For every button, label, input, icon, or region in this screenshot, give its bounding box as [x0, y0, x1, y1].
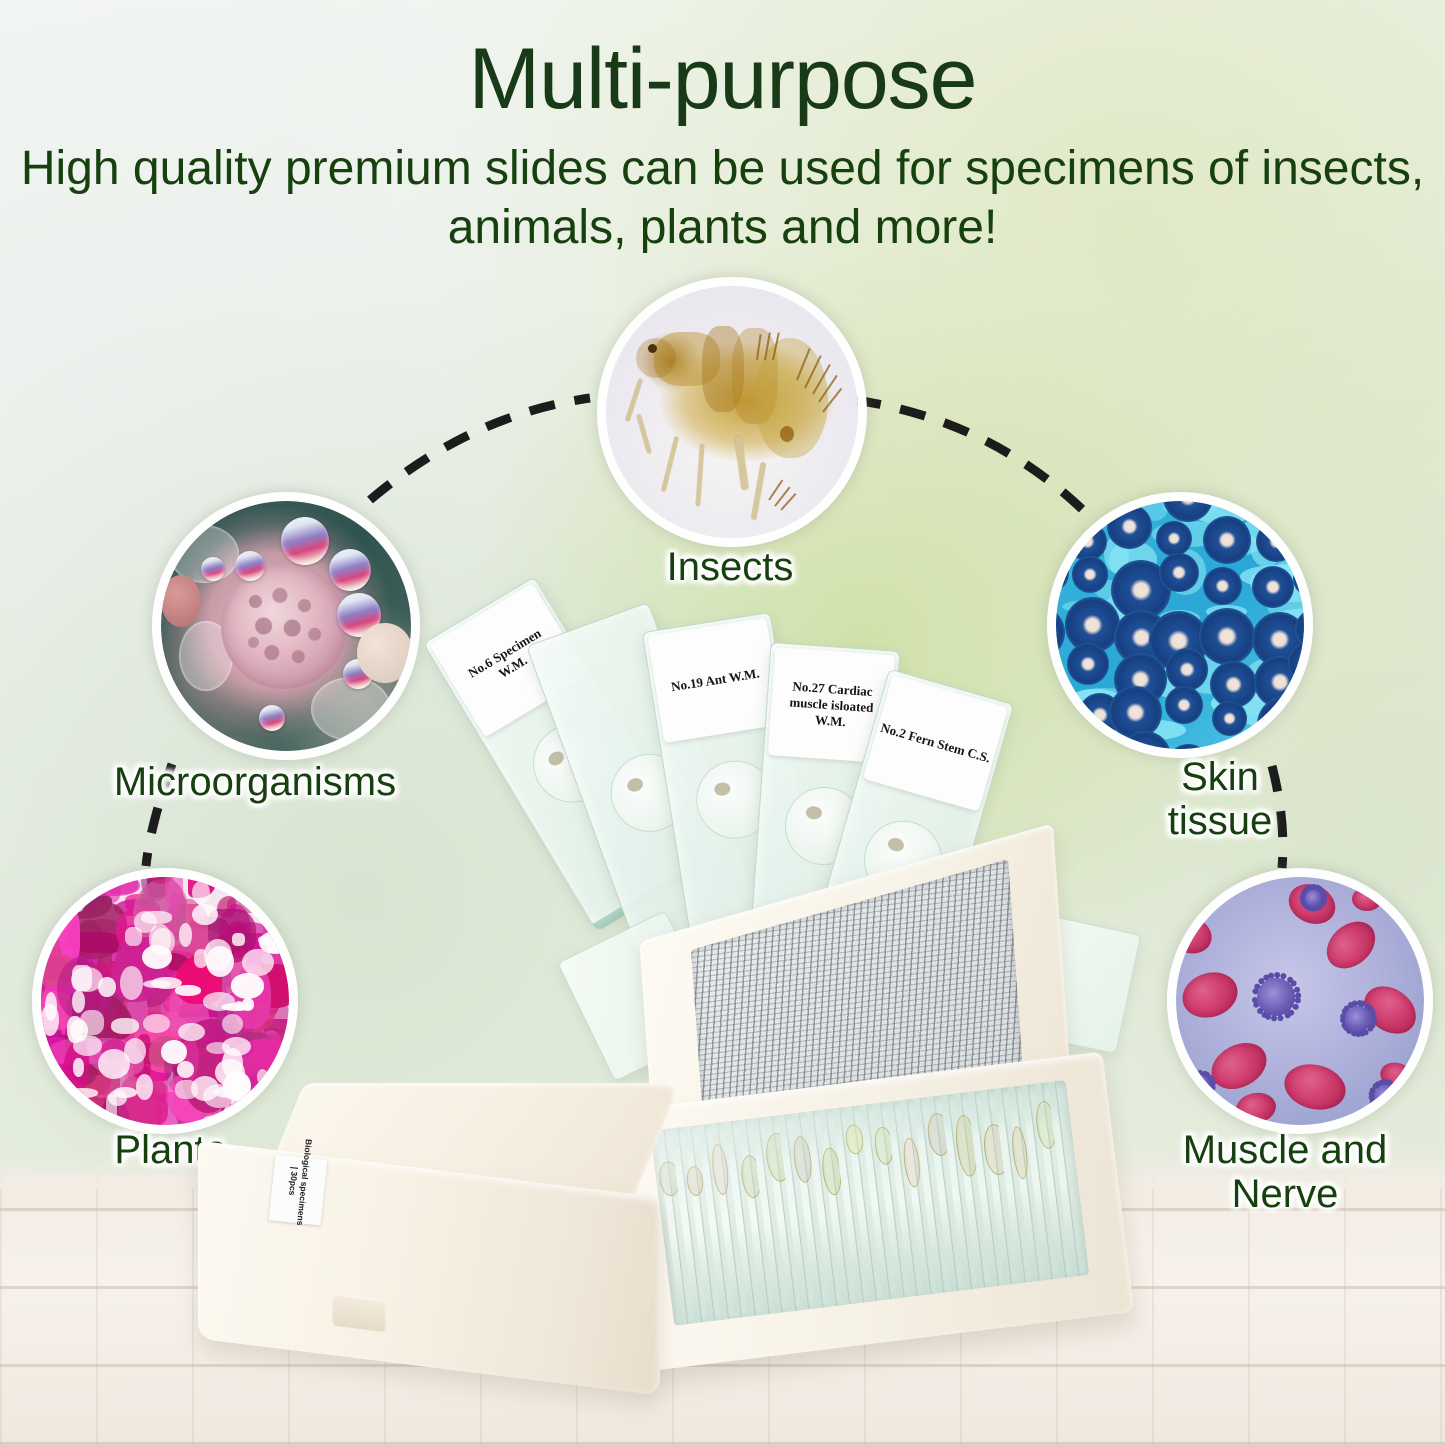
- slide-label-text: No.19 Ant W.M.: [648, 618, 783, 743]
- tissue-lumen: [192, 881, 210, 904]
- tissue-blob: [41, 879, 58, 942]
- virus-particle: [1180, 1065, 1220, 1105]
- virus-core: [1190, 1075, 1210, 1095]
- tissue-lumen: [194, 949, 209, 967]
- tissue-lumen: [136, 1074, 153, 1099]
- red-blood-cell: [1234, 1090, 1279, 1125]
- tissue-blob: [86, 877, 141, 896]
- virus-core: [1345, 1006, 1371, 1032]
- callout-label-microorganisms: Microorganisms: [60, 760, 450, 804]
- callout-label-skin-tissue: Skin tissue: [1110, 755, 1330, 843]
- protist-cell-micrograph: [161, 501, 411, 751]
- tissue-lumen: [206, 946, 234, 977]
- skin-cell: [1159, 553, 1199, 593]
- open-slide-box: [620, 885, 1140, 1355]
- skin-cell: [1109, 686, 1162, 739]
- red-blood-cell: [1352, 887, 1382, 911]
- tissue-lumen: [178, 1023, 205, 1041]
- tissue-lumen: [175, 1080, 198, 1099]
- callout-image-insects: [597, 277, 867, 547]
- skin-cell: [1107, 504, 1152, 549]
- tissue-lumen: [234, 1001, 244, 1010]
- tissue-lumen: [161, 1040, 187, 1063]
- virus-particle: [1332, 993, 1384, 1045]
- tissue-lumen: [111, 1018, 138, 1033]
- skin-cell: [1252, 566, 1294, 608]
- tissue-lumen: [232, 933, 245, 946]
- tissue-lumen: [67, 1088, 98, 1098]
- tissue-lumen: [231, 973, 265, 998]
- tissue-lumen: [70, 1103, 94, 1122]
- tissue-lumen: [259, 931, 289, 954]
- skin-cell: [1167, 744, 1210, 749]
- skin-cell: [1203, 516, 1251, 564]
- virus-core: [1305, 890, 1322, 907]
- product-marketing-image: Multi-purpose High quality premium slide…: [0, 0, 1445, 1445]
- tissue-lumen: [73, 1058, 84, 1077]
- flea-micrograph: [606, 286, 858, 538]
- virus-particle: [1238, 959, 1314, 1035]
- connector-insects-skin: [855, 400, 1085, 512]
- slide-label-text: No.2 Fern Stem C.S.: [863, 675, 1008, 812]
- tissue-lumen: [45, 992, 57, 1020]
- tissue-lumen: [80, 1010, 104, 1035]
- skin-cell: [1156, 521, 1192, 557]
- tissue-lumen: [72, 965, 92, 990]
- box-clasp: [332, 1294, 386, 1333]
- tissue-lumen: [206, 1042, 230, 1054]
- tissue-lumen: [179, 923, 192, 946]
- skin-cell: [1256, 521, 1297, 562]
- red-blood-cell: [1177, 965, 1244, 1024]
- red-blood-cell: [1280, 1058, 1351, 1116]
- tissue-lumen: [192, 904, 217, 925]
- tissue-lumen: [98, 977, 115, 997]
- red-blood-cell: [1318, 912, 1385, 978]
- skin-cell: [1212, 701, 1247, 736]
- tissue-lumen: [72, 882, 86, 912]
- callout-label-muscle-nerve: Muscle and Nerve: [1150, 1128, 1420, 1216]
- tissue-lumen: [177, 1061, 194, 1077]
- tissue-lumen: [113, 1087, 138, 1098]
- slide-stack: [651, 1080, 1090, 1325]
- virus-core: [1374, 1085, 1397, 1108]
- virus-particle: [1362, 1073, 1408, 1119]
- tissue-lumen: [120, 966, 143, 1000]
- callout-image-muscle-nerve: [1167, 868, 1433, 1134]
- tissue-blob: [235, 877, 264, 895]
- tissue-lumen: [175, 985, 202, 996]
- callout-image-microorganisms: [152, 492, 420, 760]
- tissue-lumen: [98, 1049, 130, 1079]
- virus-core: [1257, 978, 1295, 1016]
- skin-cell: [1166, 648, 1209, 691]
- virus-particle: [1296, 881, 1330, 915]
- skin-cell: [1203, 567, 1242, 606]
- product-label-sticker: Biological specimens | 30pcs: [269, 1154, 328, 1225]
- closed-slide-box: [196, 1083, 670, 1373]
- skin-cell: [1199, 608, 1255, 664]
- tissue-lumen: [125, 927, 142, 946]
- tissue-lumen: [149, 924, 171, 955]
- connector-micro-insects: [370, 398, 590, 500]
- virus-and-blood-cells: [1176, 877, 1424, 1125]
- red-blood-cell: [1176, 911, 1217, 960]
- tissue-lumen: [73, 1035, 102, 1055]
- skin-cell: [1165, 686, 1203, 724]
